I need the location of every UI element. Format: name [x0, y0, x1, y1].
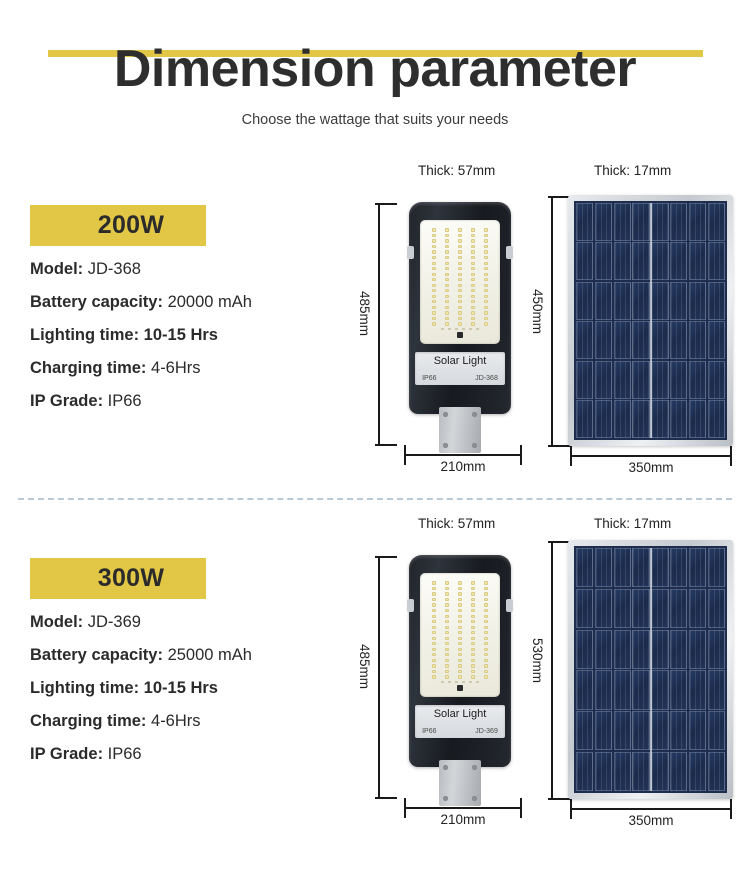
solar-cell — [689, 589, 706, 628]
led-chip — [445, 642, 450, 645]
spec-row-lighting-time: Lighting time: 10-15 Hrs — [30, 326, 350, 345]
solar-cell — [595, 321, 612, 359]
solar-cell — [708, 282, 725, 320]
led-chip — [484, 322, 489, 325]
solar-cell — [651, 630, 668, 669]
spec-key: Lighting time: — [30, 326, 139, 344]
solar-cell — [670, 670, 687, 709]
street-lamp-illustration: Solar Light IP66 JD-368 — [409, 202, 511, 454]
solar-cell — [576, 589, 593, 628]
solar-cell — [689, 321, 706, 359]
led-chip — [458, 300, 463, 303]
led-chip — [432, 615, 437, 618]
led-chip — [445, 659, 450, 662]
led-chip — [484, 642, 489, 645]
solar-cell — [670, 400, 687, 438]
wattage-badge[interactable]: 300W — [30, 558, 206, 599]
led-column — [471, 579, 476, 681]
led-chip — [484, 664, 489, 667]
led-chip — [471, 300, 476, 303]
solar-height-line — [551, 541, 553, 799]
led-column — [432, 579, 437, 681]
solar-cell — [670, 752, 687, 791]
solar-cell — [632, 711, 649, 750]
solar-cell — [670, 630, 687, 669]
led-chip — [471, 267, 476, 270]
solar-cell — [689, 282, 706, 320]
solar-busbar — [650, 203, 652, 438]
led-column — [458, 226, 463, 328]
bracket-screw-icon — [472, 765, 477, 770]
spec-key: IP Grade: — [30, 392, 103, 410]
led-chip — [471, 598, 476, 601]
bracket-screw-icon — [472, 412, 477, 417]
led-chip — [471, 262, 476, 265]
led-chip — [445, 306, 450, 309]
led-chip — [458, 598, 463, 601]
led-column — [458, 579, 463, 681]
solar-cell — [595, 630, 612, 669]
spec-value: JD-369 — [88, 613, 141, 631]
led-chip — [445, 592, 450, 595]
led-chip — [458, 278, 463, 281]
led-chip — [458, 620, 463, 623]
section-divider — [18, 498, 732, 500]
solar-cell-grid — [574, 546, 727, 793]
led-chip — [445, 317, 450, 320]
led-chip — [445, 239, 450, 242]
spec-row-ip-grade: IP Grade: IP66 — [30, 745, 350, 764]
led-chip — [484, 295, 489, 298]
solar-cell — [632, 630, 649, 669]
led-chip — [445, 603, 450, 606]
led-chip — [484, 250, 489, 253]
lamp-housing: Solar Light IP66 JD-369 — [409, 555, 511, 767]
solar-cell-grid — [574, 201, 727, 440]
solar-cell — [651, 282, 668, 320]
solar-cell — [632, 752, 649, 791]
solar-panel-frame — [568, 540, 733, 799]
led-chip — [432, 598, 437, 601]
led-chip — [471, 609, 476, 612]
lamp-model-label: JD-369 — [475, 728, 498, 735]
led-chip — [471, 289, 476, 292]
solar-cell — [614, 282, 631, 320]
led-chip — [471, 587, 476, 590]
led-chip — [471, 592, 476, 595]
led-chip — [432, 642, 437, 645]
led-chip — [471, 659, 476, 662]
led-chip — [445, 295, 450, 298]
spec-row-ip-grade: IP Grade: IP66 — [30, 392, 350, 411]
spec-row-charging-time: Charging time: 4-6Hrs — [30, 359, 350, 378]
bracket-screw-icon — [472, 443, 477, 448]
lamp-thickness-label: Thick: 57mm — [418, 516, 495, 531]
led-chip — [432, 631, 437, 634]
led-chip — [432, 620, 437, 623]
led-chip — [471, 278, 476, 281]
solar-cell — [651, 321, 668, 359]
solar-cell — [595, 242, 612, 280]
led-chip — [445, 670, 450, 673]
product-section-300w: 300W Model: JD-369 Battery capacity: 250… — [0, 508, 750, 838]
solar-cell — [614, 752, 631, 791]
solar-cell — [689, 752, 706, 791]
led-column — [484, 579, 489, 681]
led-chip — [432, 267, 437, 270]
lamp-mounting-bracket — [439, 407, 481, 453]
led-chip — [458, 615, 463, 618]
solar-cell — [614, 203, 631, 241]
led-chip — [484, 609, 489, 612]
solar-cell — [632, 242, 649, 280]
solar-cell — [595, 670, 612, 709]
spec-value: IP66 — [108, 745, 142, 763]
led-chip — [432, 653, 437, 656]
led-chip — [445, 322, 450, 325]
spec-panel: 200W Model: JD-368 Battery capacity: 200… — [30, 205, 350, 425]
solar-cell — [651, 711, 668, 750]
led-chip — [432, 311, 437, 314]
spec-value: 10-15 Hrs — [144, 679, 218, 697]
led-chip — [445, 587, 450, 590]
lamp-ip-label: IP66 — [422, 728, 436, 735]
solar-cell — [595, 400, 612, 438]
led-indicator-dots — [441, 328, 479, 330]
led-chip — [445, 284, 450, 287]
led-column — [484, 226, 489, 328]
solar-cell — [651, 361, 668, 399]
led-chip — [471, 637, 476, 640]
led-chip — [445, 631, 450, 634]
lamp-brand-label: Solar Light — [415, 355, 505, 367]
led-chip — [484, 592, 489, 595]
solar-height-line — [551, 196, 553, 446]
led-chip — [458, 262, 463, 265]
solar-cell — [708, 321, 725, 359]
led-chip — [484, 267, 489, 270]
solar-cell — [689, 203, 706, 241]
led-chip — [432, 626, 437, 629]
solar-cell — [632, 203, 649, 241]
solar-thickness-label: Thick: 17mm — [594, 516, 671, 531]
led-chip — [445, 626, 450, 629]
led-column — [432, 226, 437, 328]
led-chip — [432, 234, 437, 237]
page-subtitle: Choose the wattage that suits your needs — [0, 112, 750, 128]
lamp-ip-label: IP66 — [422, 375, 436, 382]
led-chip — [458, 675, 463, 678]
solar-cell — [708, 711, 725, 750]
led-chip — [432, 659, 437, 662]
solar-cell — [595, 589, 612, 628]
led-chip — [458, 653, 463, 656]
led-chip — [458, 670, 463, 673]
solar-cell — [708, 752, 725, 791]
solar-cell — [576, 282, 593, 320]
led-chip — [445, 245, 450, 248]
led-chip — [484, 228, 489, 231]
solar-cell — [632, 361, 649, 399]
lamp-height-line — [378, 556, 380, 798]
led-chip — [432, 289, 437, 292]
solar-cell — [632, 589, 649, 628]
led-chip — [432, 262, 437, 265]
led-chip — [445, 300, 450, 303]
solar-cell — [670, 203, 687, 241]
led-chip — [445, 273, 450, 276]
led-chip — [484, 284, 489, 287]
wattage-badge[interactable]: 200W — [30, 205, 206, 246]
led-chip — [471, 228, 476, 231]
led-chip — [432, 664, 437, 667]
led-chip — [484, 615, 489, 618]
page-title-wrap: Dimension parameter — [0, 38, 750, 100]
solar-cell — [689, 400, 706, 438]
led-chip — [432, 278, 437, 281]
bracket-screw-icon — [443, 412, 448, 417]
led-chip — [432, 250, 437, 253]
led-chip — [445, 675, 450, 678]
spec-row-battery-capacity: Battery capacity: 25000 mAh — [30, 646, 350, 665]
led-chip — [471, 322, 476, 325]
led-chip — [484, 659, 489, 662]
solar-cell — [614, 242, 631, 280]
solar-panel-frame — [568, 195, 733, 446]
led-chip — [458, 234, 463, 237]
solar-cell — [651, 203, 668, 241]
lamp-ear-right-icon — [506, 599, 513, 612]
led-chip — [432, 609, 437, 612]
led-chip — [471, 626, 476, 629]
led-chip — [484, 311, 489, 314]
bracket-screw-icon — [443, 796, 448, 801]
led-chip — [445, 250, 450, 253]
led-chip — [484, 262, 489, 265]
solar-cell — [670, 242, 687, 280]
spec-value: 4-6Hrs — [151, 712, 201, 730]
solar-cell — [632, 670, 649, 709]
solar-cell — [708, 630, 725, 669]
solar-width-label: 350mm — [570, 813, 732, 828]
led-chip — [432, 675, 437, 678]
led-chip — [458, 609, 463, 612]
led-chip — [484, 675, 489, 678]
led-chip — [484, 317, 489, 320]
lamp-width-label: 210mm — [404, 459, 522, 474]
solar-cell — [595, 711, 612, 750]
solar-cell — [651, 400, 668, 438]
led-chip — [458, 659, 463, 662]
solar-cell — [651, 242, 668, 280]
led-chip — [471, 664, 476, 667]
light-sensor-icon — [457, 685, 463, 691]
led-chip — [484, 587, 489, 590]
spec-row-battery-capacity: Battery capacity: 20000 mAh — [30, 293, 350, 312]
page-header: Dimension parameter Choose the wattage t… — [0, 0, 750, 150]
solar-cell — [614, 589, 631, 628]
spec-row-model: Model: JD-369 — [30, 613, 350, 632]
lamp-thickness-label: Thick: 57mm — [418, 163, 495, 178]
solar-cell — [614, 670, 631, 709]
solar-thickness-label: Thick: 17mm — [594, 163, 671, 178]
led-chip — [432, 284, 437, 287]
solar-cell — [576, 711, 593, 750]
led-chip — [458, 317, 463, 320]
product-dimension-page: Dimension parameter Choose the wattage t… — [0, 0, 750, 878]
spec-key: Charging time: — [30, 712, 146, 730]
solar-cell — [576, 752, 593, 791]
lamp-width-line — [404, 807, 521, 809]
led-chip — [471, 670, 476, 673]
solar-height-cap-bottom — [548, 798, 570, 800]
led-chip — [445, 598, 450, 601]
light-sensor-icon — [457, 332, 463, 338]
led-chip — [471, 675, 476, 678]
lamp-model-label: JD-368 — [475, 375, 498, 382]
lamp-height-label: 485mm — [357, 644, 372, 689]
led-chip — [458, 603, 463, 606]
lamp-label-band: Solar Light IP66 JD-368 — [415, 352, 505, 385]
led-chip — [445, 581, 450, 584]
led-chip — [445, 256, 450, 259]
led-chip — [445, 664, 450, 667]
led-chip — [432, 317, 437, 320]
led-chip — [484, 631, 489, 634]
solar-cell — [595, 548, 612, 587]
wattage-badge-label: 200W — [98, 211, 165, 240]
solar-cell — [689, 548, 706, 587]
solar-height-label: 530mm — [530, 638, 545, 683]
led-chip — [471, 620, 476, 623]
lamp-width-label: 210mm — [404, 812, 522, 827]
led-chip — [458, 592, 463, 595]
led-chip — [445, 609, 450, 612]
solar-cell — [595, 282, 612, 320]
led-chip — [471, 284, 476, 287]
led-chip — [471, 250, 476, 253]
led-chip — [458, 637, 463, 640]
led-chip — [484, 626, 489, 629]
lamp-width-line — [404, 454, 521, 456]
led-chip — [458, 626, 463, 629]
solar-cell — [576, 203, 593, 241]
solar-cell — [708, 589, 725, 628]
led-chip — [445, 262, 450, 265]
led-chip — [445, 637, 450, 640]
led-chip — [471, 273, 476, 276]
spec-panel: 300W Model: JD-369 Battery capacity: 250… — [30, 558, 350, 778]
wattage-badge-label: 300W — [98, 564, 165, 593]
led-chip — [458, 239, 463, 242]
solar-cell — [708, 361, 725, 399]
led-chip — [484, 598, 489, 601]
led-chip — [484, 245, 489, 248]
lamp-mounting-bracket — [439, 760, 481, 806]
lamp-ear-left-icon — [407, 246, 414, 259]
led-column — [445, 226, 450, 328]
led-chip — [471, 642, 476, 645]
solar-cell — [614, 711, 631, 750]
led-chip — [445, 228, 450, 231]
led-panel — [420, 573, 500, 697]
led-chip — [445, 653, 450, 656]
led-chip — [432, 648, 437, 651]
led-chip — [471, 311, 476, 314]
lamp-brand-label: Solar Light — [415, 708, 505, 720]
spec-row-model: Model: JD-368 — [30, 260, 350, 279]
lamp-height-cap-bottom — [375, 444, 397, 446]
led-chip — [484, 648, 489, 651]
led-chip — [471, 306, 476, 309]
spec-key: Charging time: — [30, 359, 146, 377]
product-section-200w: 200W Model: JD-368 Battery capacity: 200… — [0, 155, 750, 485]
solar-cell — [614, 548, 631, 587]
led-chip — [432, 637, 437, 640]
bracket-screw-icon — [472, 796, 477, 801]
led-chip — [432, 603, 437, 606]
spec-key: Battery capacity: — [30, 293, 163, 311]
led-chip — [484, 239, 489, 242]
bracket-screw-icon — [443, 765, 448, 770]
spec-value: 10-15 Hrs — [144, 326, 218, 344]
led-chip — [432, 592, 437, 595]
led-chip — [471, 256, 476, 259]
led-chip — [458, 311, 463, 314]
led-chip — [458, 289, 463, 292]
led-chip — [458, 295, 463, 298]
led-chip — [432, 322, 437, 325]
led-chip — [445, 289, 450, 292]
solar-cell — [595, 361, 612, 399]
solar-cell — [708, 548, 725, 587]
solar-cell — [576, 361, 593, 399]
solar-width-line — [570, 455, 731, 457]
led-chip — [458, 256, 463, 259]
led-chip — [484, 256, 489, 259]
led-chip — [471, 317, 476, 320]
led-chip — [471, 653, 476, 656]
led-column — [445, 579, 450, 681]
led-chip — [445, 620, 450, 623]
solar-cell — [689, 711, 706, 750]
solar-cell — [689, 242, 706, 280]
solar-cell — [632, 282, 649, 320]
solar-cell — [651, 589, 668, 628]
spec-value: 25000 mAh — [168, 646, 252, 664]
spec-value: IP66 — [108, 392, 142, 410]
lamp-height-cap-bottom — [375, 797, 397, 799]
spec-value: 20000 mAh — [168, 293, 252, 311]
led-chip — [471, 234, 476, 237]
spec-key: Model: — [30, 613, 83, 631]
solar-cell — [670, 321, 687, 359]
street-lamp-illustration: Solar Light IP66 JD-369 — [409, 555, 511, 807]
spec-row-charging-time: Charging time: 4-6Hrs — [30, 712, 350, 731]
led-chip — [471, 239, 476, 242]
spec-key: Lighting time: — [30, 679, 139, 697]
led-chip — [458, 587, 463, 590]
led-chip — [484, 637, 489, 640]
led-chip — [432, 256, 437, 259]
spec-key: Model: — [30, 260, 83, 278]
led-chip — [458, 631, 463, 634]
solar-width-label: 350mm — [570, 460, 732, 475]
led-chip — [471, 648, 476, 651]
led-chip — [471, 631, 476, 634]
spec-value: 4-6Hrs — [151, 359, 201, 377]
solar-cell — [689, 670, 706, 709]
